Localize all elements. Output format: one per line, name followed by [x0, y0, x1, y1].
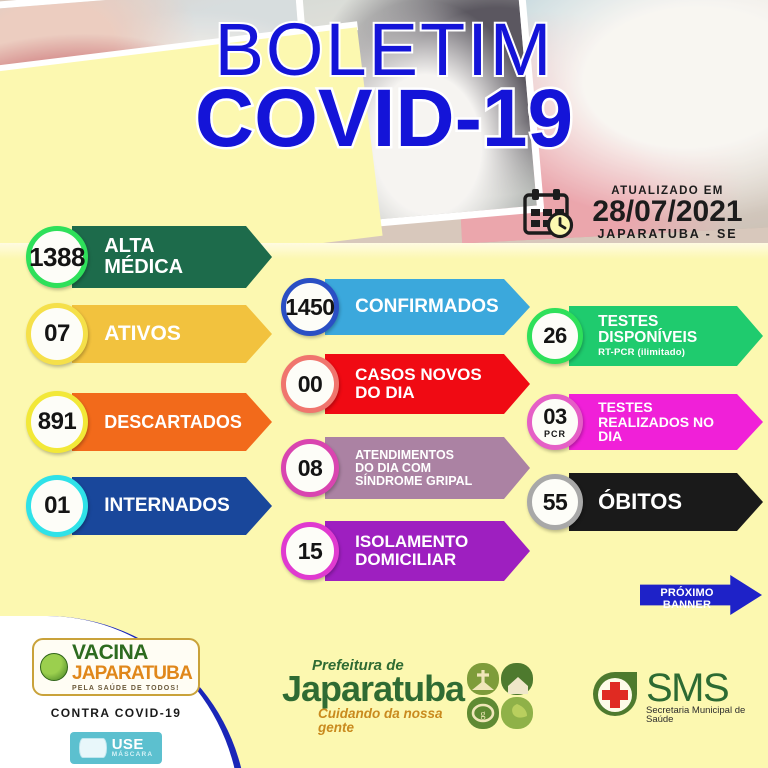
stat-value-atendimentos-sindrome-gripal: 08: [298, 457, 323, 480]
stat-value-descartados: 891: [38, 410, 77, 434]
stat-label-testes-realizados-no-dia: TESTES REALIZADOS NO DIA: [598, 400, 737, 444]
stat-label-casos-novos-do-dia: CASOS NOVOS DO DIA: [355, 366, 482, 401]
stat-value-internados: 01: [44, 494, 70, 518]
vaccine-campaign-block: VACINA JAPARATUBA PELA SAÚDE DE TODOS! C…: [26, 638, 206, 764]
use-mascara-badge: USE MÁSCARA: [70, 732, 162, 764]
stat-badge-casos-novos-do-dia: CASOS NOVOS DO DIA00: [281, 354, 530, 414]
stat-value-alta-medica: 1388: [29, 244, 85, 270]
calendar-clock-icon: [520, 187, 576, 239]
stat-label-obitos: ÓBITOS: [598, 491, 682, 514]
stat-arrow-internados: INTERNADOS: [72, 477, 272, 535]
stat-label-testes-disponiveis: TESTES DISPONÍVEIS: [598, 314, 697, 346]
stat-arrow-ativos: ATIVOS: [72, 305, 272, 363]
stat-label-confirmados: CONFIRMADOS: [355, 297, 499, 317]
stat-badge-alta-medica: ALTA MÉDICA1388: [26, 226, 272, 288]
stat-badge-confirmados: CONFIRMADOS1450: [281, 279, 530, 335]
globe-icon: [40, 653, 68, 681]
stat-arrow-descartados: DESCARTADOS: [72, 393, 272, 451]
stat-circle-confirmados: 1450: [281, 278, 339, 336]
stat-badge-internados: INTERNADOS01: [26, 477, 272, 535]
stat-circle-ativos: 07: [26, 303, 88, 365]
stat-arrow-testes-realizados-no-dia: TESTES REALIZADOS NO DIA: [569, 394, 763, 450]
stat-badge-testes-disponiveis: TESTES DISPONÍVEISRT-PCR (ilimitado)26: [527, 306, 763, 366]
stat-circle-testes-realizados-no-dia: 03PCR: [527, 394, 583, 450]
stat-circle-isolamento-domiciliar: 15: [281, 522, 339, 580]
stat-badge-testes-realizados-no-dia: TESTES REALIZADOS NO DIA03PCR: [527, 394, 763, 450]
stat-value-ativos: 07: [44, 322, 70, 346]
svg-text:g: g: [481, 709, 486, 720]
proximo-banner-label: PRÓXIMO BANNER: [644, 587, 730, 611]
stat-arrow-casos-novos-do-dia: CASOS NOVOS DO DIA: [325, 354, 530, 414]
stat-circle-atendimentos-sindrome-gripal: 08: [281, 439, 339, 497]
stat-badge-atendimentos-sindrome-gripal: ATENDIMENTOS DO DIA COM SÍNDROME GRIPAL0…: [281, 437, 530, 499]
stat-badge-isolamento-domiciliar: ISOLAMENTO DOMICILIAR15: [281, 521, 530, 581]
stat-value-confirmados: 1450: [285, 296, 334, 319]
clover-emblem-icon: g: [464, 660, 536, 732]
sms-acronym: SMS: [646, 668, 748, 708]
stat-circle-alta-medica: 1388: [26, 226, 88, 288]
vacina-label: VACINA: [72, 642, 192, 663]
vacina-japaratuba-logo: VACINA JAPARATUBA PELA SAÚDE DE TODOS!: [32, 638, 200, 696]
stat-label-internados: INTERNADOS: [104, 496, 230, 516]
update-location: JAPARATUBA - SE: [583, 227, 752, 241]
proximo-banner-button[interactable]: PRÓXIMO BANNER: [640, 575, 762, 615]
stat-badge-obitos: ÓBITOS55: [527, 473, 763, 531]
covid-bulletin-poster: BOLETIM COVID-19 ATUALIZADO EM 28/07/202…: [0, 0, 768, 768]
use-label: USE: [112, 737, 154, 752]
stat-arrow-alta-medica: ALTA MÉDICA: [72, 226, 272, 288]
stat-badge-ativos: ATIVOS07: [26, 305, 272, 363]
vacina-tagline: PELA SAÚDE DE TODOS!: [72, 685, 192, 692]
prefeitura-tagline: Cuidando da nossa gente: [318, 707, 464, 734]
stat-circle-casos-novos-do-dia: 00: [281, 355, 339, 413]
face-mask-icon: [79, 738, 107, 758]
stat-label-isolamento-domiciliar: ISOLAMENTO DOMICILIAR: [355, 533, 468, 568]
japaratuba-label: JAPARATUBA: [72, 664, 192, 683]
mascara-label: MÁSCARA: [112, 752, 154, 759]
prefecture-logo-block: Prefeitura de Japaratuba Cuidando da nos…: [282, 655, 534, 737]
stat-badge-descartados: DESCARTADOS891: [26, 393, 272, 451]
stat-arrow-confirmados: CONFIRMADOS: [325, 279, 530, 335]
stat-circle-obitos: 55: [527, 474, 583, 530]
stat-circle-internados: 01: [26, 475, 88, 537]
health-cross-icon: [588, 669, 642, 723]
stat-arrow-isolamento-domiciliar: ISOLAMENTO DOMICILIAR: [325, 521, 530, 581]
sms-logo-block: SMS Secretaria Municipal de Saúde: [588, 660, 748, 732]
stat-label-descartados: DESCARTADOS: [104, 413, 242, 432]
contra-covid-label: CONTRA COVID-19: [26, 706, 206, 720]
stat-value-testes-realizados-no-dia: 03: [543, 406, 566, 428]
stat-value-casos-novos-do-dia: 00: [298, 373, 323, 396]
japaratuba-name: Japaratuba: [282, 671, 464, 706]
stat-value-obitos: 55: [543, 491, 568, 514]
stat-circle-testes-disponiveis: 26: [527, 308, 583, 364]
stat-arrow-obitos: ÓBITOS: [569, 473, 763, 531]
stat-subvalue-testes-realizados-no-dia: PCR: [544, 429, 566, 439]
stat-circle-descartados: 891: [26, 391, 88, 453]
sms-full-name: Secretaria Municipal de Saúde: [646, 706, 748, 725]
stat-arrow-testes-disponiveis: TESTES DISPONÍVEISRT-PCR (ilimitado): [569, 306, 763, 366]
update-date: 28/07/2021: [583, 197, 752, 228]
stat-arrow-atendimentos-sindrome-gripal: ATENDIMENTOS DO DIA COM SÍNDROME GRIPAL: [325, 437, 530, 499]
stat-label-atendimentos-sindrome-gripal: ATENDIMENTOS DO DIA COM SÍNDROME GRIPAL: [355, 449, 472, 488]
stat-label-alta-medica: ALTA MÉDICA: [104, 236, 183, 278]
stat-value-testes-disponiveis: 26: [543, 325, 566, 347]
update-date-block: ATUALIZADO EM 28/07/2021 JAPARATUBA - SE: [520, 182, 752, 244]
stat-sublabel-testes-disponiveis: RT-PCR (ilimitado): [598, 347, 697, 358]
stat-value-isolamento-domiciliar: 15: [298, 540, 323, 563]
stat-label-ativos: ATIVOS: [104, 323, 181, 345]
